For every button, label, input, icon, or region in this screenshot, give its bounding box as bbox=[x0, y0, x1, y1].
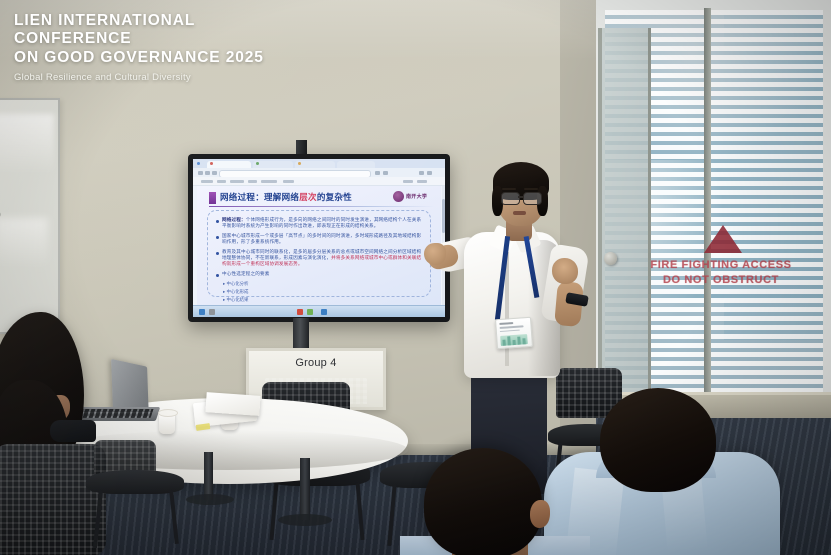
bullet-icon bbox=[216, 236, 219, 239]
eyebrow-right bbox=[524, 188, 538, 190]
taskbar-app-icon[interactable] bbox=[297, 309, 303, 315]
extensions-icon[interactable] bbox=[383, 171, 388, 176]
whiteboard-glare-2 bbox=[0, 218, 48, 268]
slide-title-prefix: 网络过程：理解网络 bbox=[220, 192, 299, 202]
badge-text-line bbox=[499, 322, 513, 324]
attendee-head bbox=[424, 448, 542, 555]
logo-text: 南开大学 bbox=[406, 193, 427, 200]
bullet-body: 国家中心城市形成一个或多层「高节点」的多时间的同时演进，多时域形成路径及其地域结… bbox=[222, 233, 421, 244]
door-handle-icon[interactable] bbox=[604, 252, 617, 265]
whiteboard-glare bbox=[0, 114, 54, 174]
speaker-right-hand bbox=[552, 258, 578, 284]
slide-title-highlight: 层次 bbox=[299, 192, 317, 202]
glasses-right-lens-icon bbox=[523, 192, 542, 205]
toolbar-control[interactable] bbox=[283, 180, 294, 183]
glasses-bridge bbox=[518, 196, 524, 198]
whiteboard bbox=[0, 98, 60, 334]
bullet-icon bbox=[216, 274, 219, 277]
slide-sub-bullet: ▸ 中心化形成 bbox=[223, 289, 422, 295]
window-frame-top bbox=[596, 0, 831, 10]
toolbar-control[interactable] bbox=[201, 180, 213, 183]
browser-tab[interactable] bbox=[207, 161, 251, 168]
toolbar-control[interactable] bbox=[217, 180, 226, 183]
browser-tab-strip[interactable] bbox=[193, 159, 445, 168]
eyebrow-left bbox=[502, 188, 516, 190]
toolbar-control[interactable] bbox=[261, 180, 277, 183]
scrollbar-thumb[interactable] bbox=[442, 199, 445, 233]
table-leg-base bbox=[186, 494, 234, 505]
chair-back[interactable] bbox=[0, 444, 106, 555]
slide-title-accent bbox=[209, 192, 216, 204]
slide-title-underline bbox=[209, 206, 435, 207]
slide-title-suffix: 的复杂性 bbox=[317, 192, 352, 202]
slide-title: 网络过程：理解网络层次的复杂性 bbox=[220, 191, 352, 203]
conference-room-photo: FIRE FIGHTING ACCESS DO NOT OBSTRUCT bbox=[0, 0, 831, 555]
toolbar-control[interactable] bbox=[403, 180, 413, 183]
slide-bullet: 中心性选定程之的要素 bbox=[216, 271, 422, 277]
sub-bullet-text: 中心化结果 bbox=[226, 297, 248, 302]
browser-tab[interactable] bbox=[337, 161, 375, 168]
ceiling-light-gradient bbox=[0, 0, 612, 60]
tab-favicon bbox=[210, 162, 213, 165]
reload-icon[interactable] bbox=[212, 171, 217, 176]
display-screen: 网络过程：理解网络层次的复杂性 南开大学 网络过程：个体网络形成行为，是多向的网… bbox=[193, 159, 445, 317]
star-icon[interactable] bbox=[375, 171, 380, 176]
conference-badge bbox=[495, 317, 533, 349]
slide-sub-bullet: ▸ 中心化分析 bbox=[223, 281, 422, 287]
browser-tab[interactable] bbox=[253, 161, 293, 168]
presentation-display[interactable]: 网络过程：理解网络层次的复杂性 南开大学 网络过程：个体网络形成行为，是多向的网… bbox=[188, 154, 450, 322]
coffee-cup-rim bbox=[158, 409, 178, 417]
sub-bullet-text: 中心化分析 bbox=[226, 281, 248, 286]
speaker-left-hand bbox=[424, 243, 446, 265]
back-icon[interactable] bbox=[198, 171, 203, 176]
toolbar-control[interactable] bbox=[230, 180, 244, 183]
forward-icon[interactable] bbox=[205, 171, 210, 176]
tab-favicon bbox=[256, 162, 259, 165]
badge-text-line bbox=[500, 329, 520, 332]
attendee-head bbox=[600, 388, 716, 492]
bullet-text: 中心性选定程之的要素 bbox=[222, 271, 269, 277]
table-leg-base bbox=[278, 514, 332, 526]
taskbar[interactable] bbox=[193, 305, 445, 317]
taskbar-search-icon[interactable] bbox=[209, 309, 215, 315]
bullet-text: 网络过程：个体网络形成行为，是多向的网络之间同时的同时发生演进，其网络结构个人在… bbox=[222, 217, 422, 229]
window-mullion bbox=[704, 8, 711, 396]
taskbar-app-icon[interactable] bbox=[321, 309, 327, 315]
table-leg bbox=[204, 452, 213, 500]
menu-icon[interactable] bbox=[419, 171, 424, 176]
taskbar-app-icon[interactable] bbox=[307, 309, 313, 315]
slide-bullet: 国家中心城市形成一个或多层「高节点」的多时间的同时演进，多时域形成路径及其地域结… bbox=[216, 233, 422, 245]
attendee-arm bbox=[50, 420, 96, 442]
university-logo: 南开大学 bbox=[393, 190, 431, 203]
speaker-mouth bbox=[513, 211, 526, 215]
tab-favicon bbox=[298, 162, 301, 165]
bullet-text: 教育及其中心城市同时的联系化，是多的居多分层关系的总点或城市空间网络之间分析区域… bbox=[222, 249, 422, 268]
toolbar-control[interactable] bbox=[248, 180, 257, 183]
laptop-keyboard[interactable] bbox=[77, 409, 154, 418]
slide-bullet: 网络过程：个体网络形成行为，是多向的网络之间同时的同时发生演进，其网络结构个人在… bbox=[216, 217, 422, 229]
bullet-body: 个体网络形成行为，是多向的网络之间同时的同时发生演进，其网络结构个人在关系平衡影… bbox=[222, 217, 421, 228]
attendee-ear bbox=[530, 500, 550, 528]
slide-body: 网络过程：个体网络形成行为，是多向的网络之间同时的同时发生演进，其网络结构个人在… bbox=[207, 210, 431, 297]
group-label: Group 4 bbox=[249, 357, 383, 369]
table-leg bbox=[300, 458, 310, 520]
paper-sheet[interactable] bbox=[205, 392, 260, 416]
slide-sub-bullet: ▸ 中心化结果 bbox=[223, 297, 422, 303]
toolbar-control[interactable] bbox=[417, 180, 427, 183]
slide-bullet: 教育及其中心城市同时的联系化，是多的居多分层关系的总点或城市空间网络之间分析区域… bbox=[216, 249, 422, 268]
browser-tab[interactable] bbox=[295, 161, 335, 168]
glasses-left-lens-icon bbox=[501, 192, 520, 205]
badge-graphic bbox=[500, 334, 528, 346]
bullet-icon bbox=[216, 252, 219, 255]
slide-canvas: 网络过程：理解网络层次的复杂性 南开大学 网络过程：个体网络形成行为，是多向的网… bbox=[197, 186, 441, 305]
badge-text-line bbox=[500, 325, 524, 328]
bullet-lead: 网络过程： bbox=[222, 217, 246, 222]
whiteboard-fixture bbox=[0, 212, 1, 217]
logo-mark-icon bbox=[393, 191, 404, 202]
profile-icon[interactable] bbox=[427, 171, 432, 176]
start-icon[interactable] bbox=[199, 309, 205, 315]
browser-logo-icon bbox=[197, 162, 200, 165]
bullet-icon bbox=[216, 220, 219, 223]
sub-bullet-text: 中心化形成 bbox=[226, 289, 248, 294]
bullet-text: 国家中心城市形成一个或多层「高节点」的多时间的同时演进，多时域形成路径及其地域结… bbox=[222, 233, 422, 245]
window-frame-right bbox=[823, 0, 831, 400]
